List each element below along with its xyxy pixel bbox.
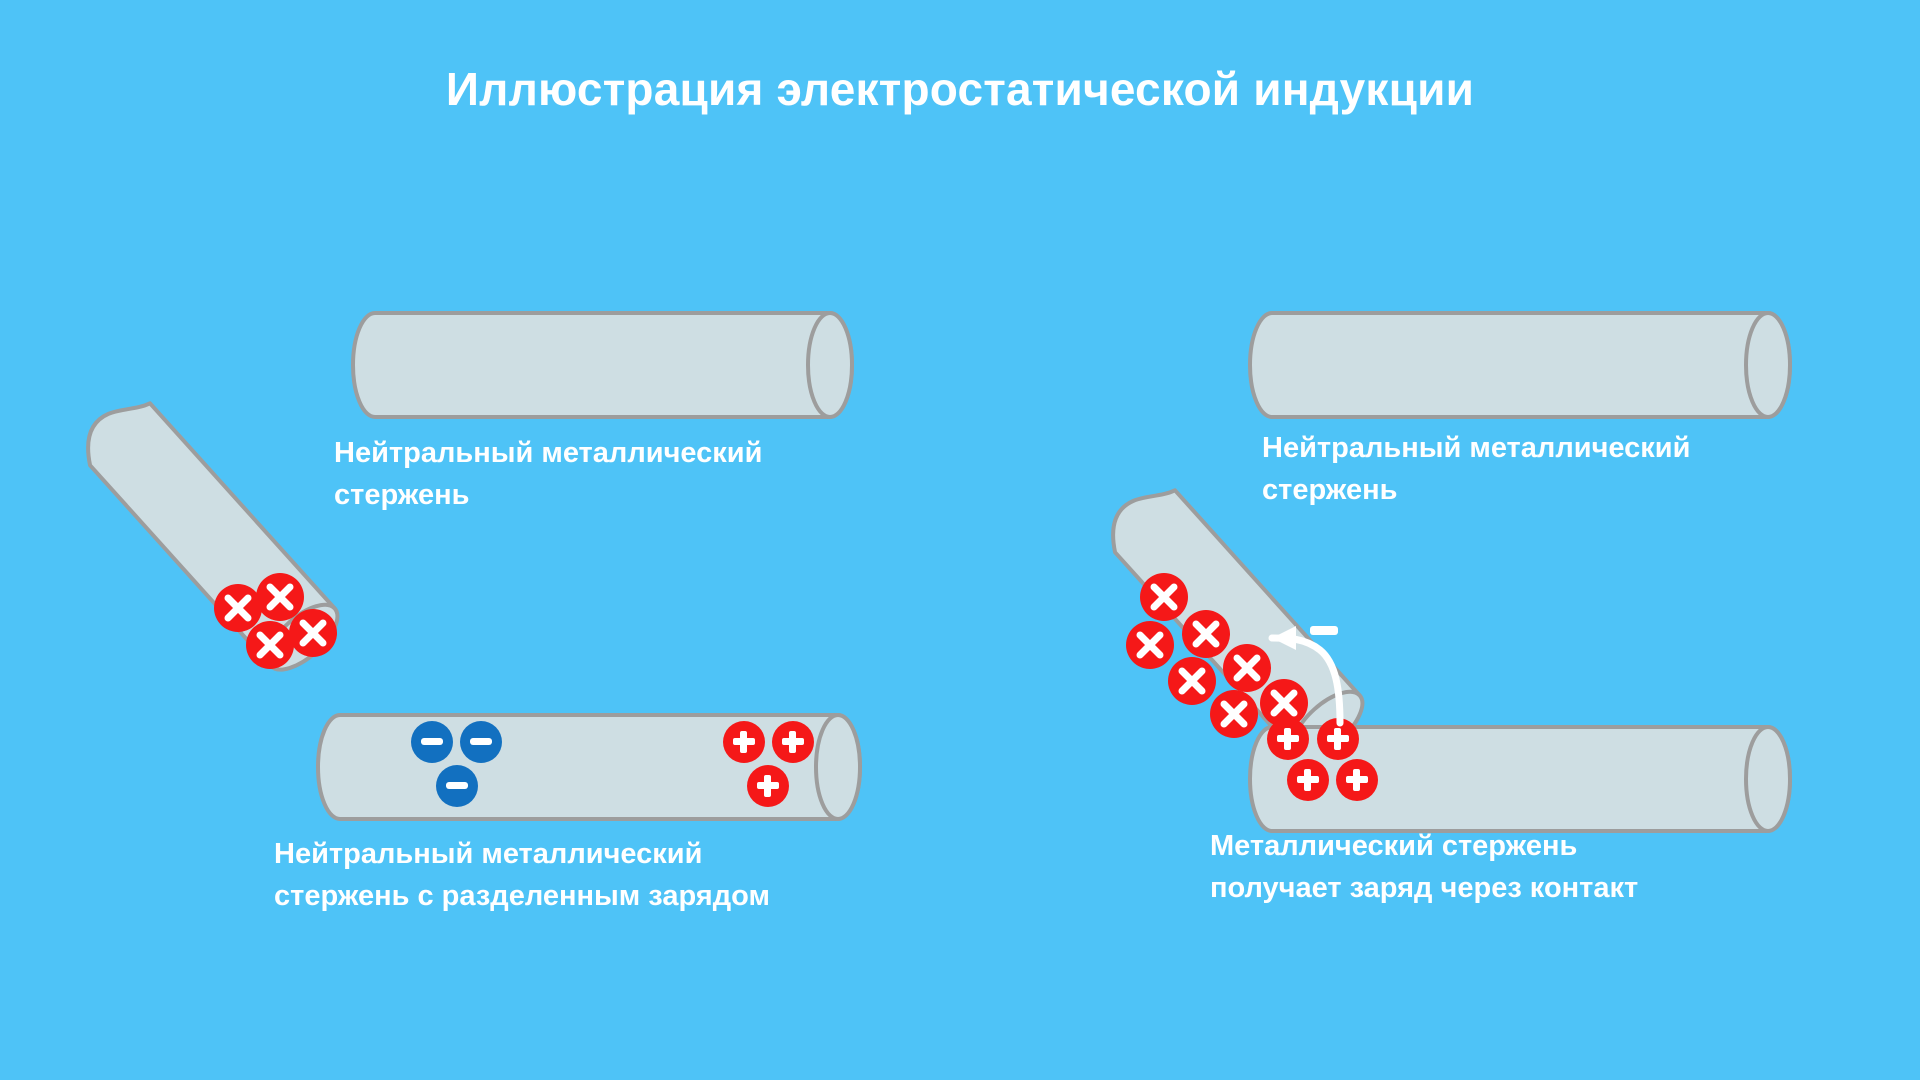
right-top-neutral-rod bbox=[1250, 313, 1790, 417]
diagram-canvas: Иллюстрация электростатической индукции bbox=[0, 0, 1920, 1080]
charge-x bbox=[1168, 657, 1216, 705]
charge-x bbox=[256, 573, 304, 621]
caption-right-bottom: Металлический стержень получает заряд че… bbox=[1210, 825, 1638, 909]
charge-plus bbox=[747, 765, 789, 807]
charge-x bbox=[1126, 621, 1174, 669]
charge-plus bbox=[772, 721, 814, 763]
electron-minus-label bbox=[1310, 626, 1338, 635]
caption-left-bottom: Нейтральный металлический стержень с раз… bbox=[274, 833, 770, 917]
charge-plus bbox=[723, 721, 765, 763]
charge-plus bbox=[1336, 759, 1378, 801]
charge-plus bbox=[1267, 718, 1309, 760]
diagram-illustration bbox=[0, 0, 1920, 1080]
charge-x bbox=[246, 621, 294, 669]
left-top-neutral-rod bbox=[353, 313, 852, 417]
charge-x bbox=[289, 609, 337, 657]
caption-right-top: Нейтральный металлический стержень bbox=[1262, 427, 1690, 511]
charge-plus bbox=[1287, 759, 1329, 801]
charge-minus bbox=[460, 721, 502, 763]
charge-x bbox=[1210, 690, 1258, 738]
charge-x bbox=[1140, 573, 1188, 621]
caption-left-top: Нейтральный металлический стержень bbox=[334, 432, 762, 516]
charge-minus bbox=[411, 721, 453, 763]
charge-x bbox=[1223, 644, 1271, 692]
charge-x bbox=[214, 584, 262, 632]
charge-x bbox=[1182, 610, 1230, 658]
charge-minus bbox=[436, 765, 478, 807]
